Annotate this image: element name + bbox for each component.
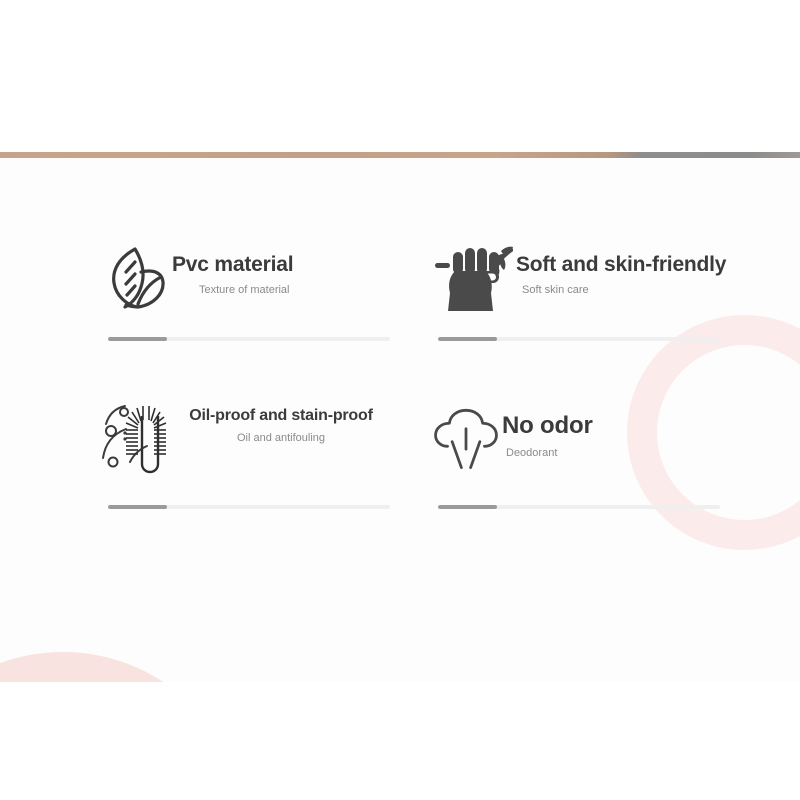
feature-title: Soft and skin-friendly — [516, 253, 726, 277]
accent-band — [0, 152, 800, 158]
feature-progress-bar — [438, 337, 720, 341]
feature-title: Oil-proof and stain-proof — [172, 407, 390, 425]
feature-card-oil-stain-proof[interactable]: Oil-proof and stain-proof Oil and antifo… — [100, 397, 390, 509]
feature-subtitle: Soft skin care — [522, 284, 726, 297]
feature-title: No odor — [502, 413, 720, 440]
bottle-brush-icon — [100, 397, 172, 479]
leaf-icon — [100, 237, 172, 319]
odor-cloud-icon — [430, 397, 502, 479]
feature-progress-fill — [108, 505, 167, 509]
decorative-arc-outer — [0, 652, 246, 682]
feature-progress-bar — [438, 505, 720, 509]
product-feature-page: Pvc material Texture of material — [0, 0, 800, 800]
feature-card-pvc-material[interactable]: Pvc material Texture of material — [100, 237, 390, 341]
feature-progress-fill — [438, 505, 497, 509]
feature-card-no-odor[interactable]: No odor Deodorant — [430, 397, 720, 509]
feature-subtitle: Texture of material — [199, 284, 390, 297]
feature-title: Pvc material — [172, 253, 390, 277]
feature-subtitle: Oil and antifouling — [172, 432, 390, 445]
feature-progress-bar — [108, 505, 390, 509]
fist-wheat-icon — [430, 237, 516, 319]
feature-subtitle: Deodorant — [506, 447, 720, 460]
feature-progress-fill — [438, 337, 497, 341]
feature-progress-bar — [108, 337, 390, 341]
feature-progress-fill — [108, 337, 167, 341]
feature-card-soft-skin-friendly[interactable]: Soft and skin-friendly Soft skin care — [430, 237, 720, 341]
